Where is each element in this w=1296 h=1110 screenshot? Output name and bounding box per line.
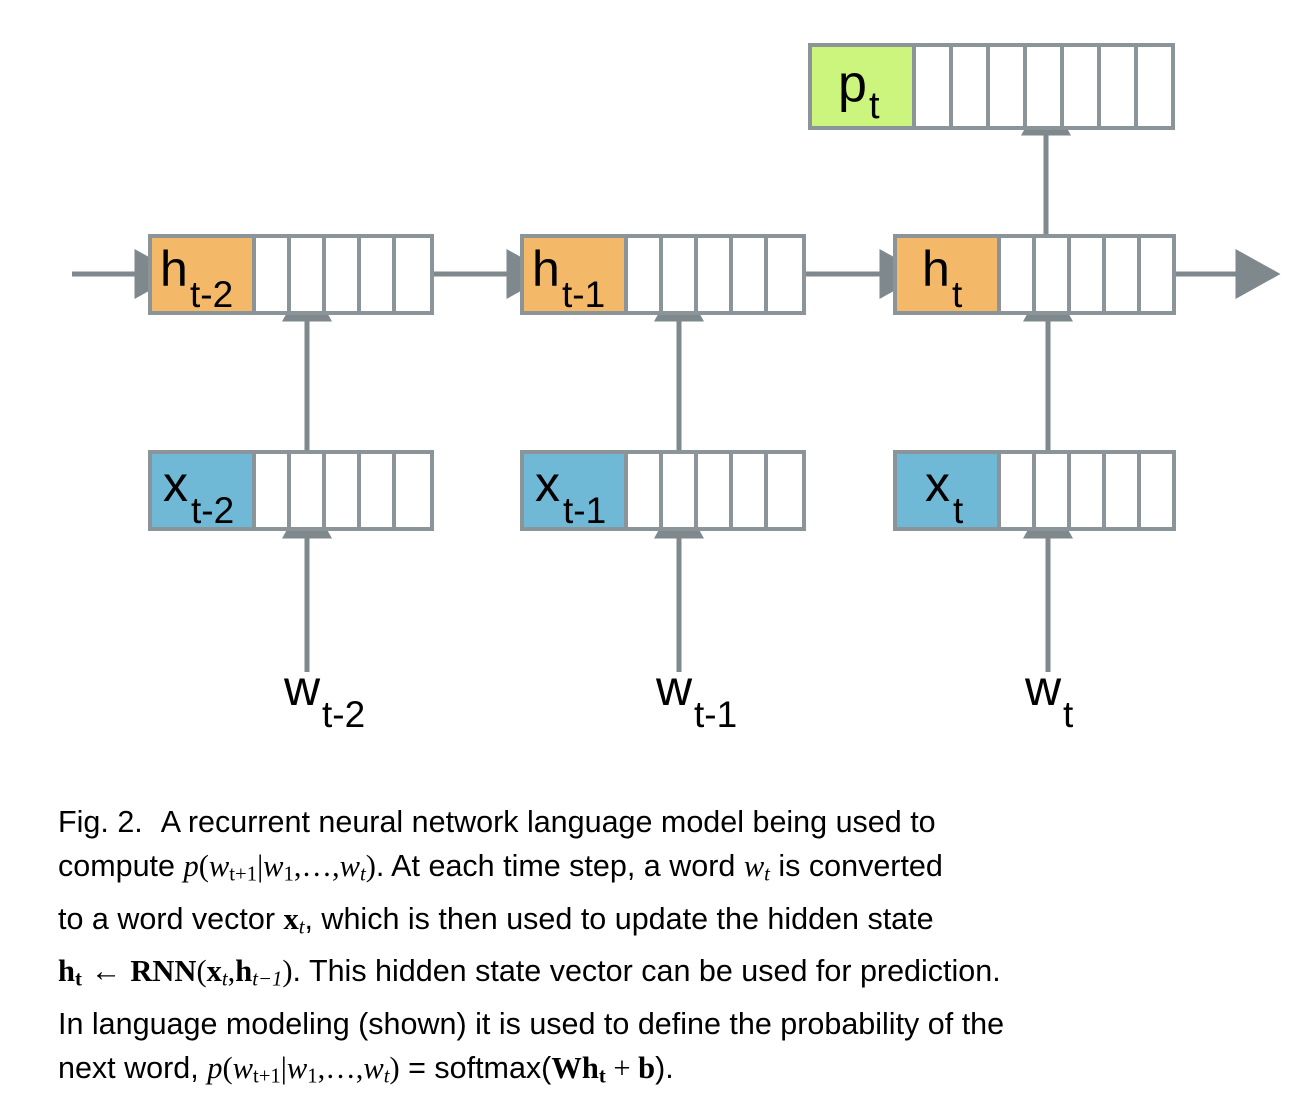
w2-label-sub: t-1 [694, 694, 737, 735]
caption-math-sub-t1: t+1 [229, 864, 257, 886]
pt-empty-cell [1025, 45, 1062, 128]
caption-math-sub-t1b: t+1 [253, 1065, 281, 1087]
x1-empty-cell [324, 452, 359, 529]
pt-empty-cell [1099, 45, 1136, 128]
caption-math-wt: w [744, 849, 764, 883]
caption-math-w5: w [287, 1051, 307, 1085]
caption-line-3: to a word vector xt, which is then used … [58, 897, 1240, 950]
h3-empty-cell [1069, 236, 1104, 313]
caption-line-2: compute p(wt+1|w1,…,wt). At each time st… [58, 844, 1240, 897]
h3-empty-cell [999, 236, 1034, 313]
caption-line-1: Fig. 2.A recurrent neural network langua… [58, 800, 1240, 844]
input-vector-t: x t [895, 452, 1174, 531]
caption-math-w1: w [209, 849, 229, 883]
caption-line1-text: A recurrent neural network language mode… [161, 805, 936, 839]
h3-empty-cell [1139, 236, 1174, 313]
w2-label-main: w [655, 660, 693, 716]
h2-empty-cell [661, 236, 696, 313]
x3-empty-cell [999, 452, 1034, 529]
hidden-state-vector-t-1: h t-1 [522, 236, 804, 315]
caption-line6-eq: = softmax( [400, 1051, 552, 1085]
x1-empty-cell [394, 452, 432, 529]
caption-math-hvec2-sub: t−1 [252, 969, 282, 991]
caption-line4-b: . This hidden state vector can be used f… [293, 954, 1001, 988]
x2-empty-cell [696, 452, 731, 529]
caption-line-4: ht←RNN(xt,ht−1). This hidden state vecto… [58, 949, 1240, 1002]
caption-math-xvec2: x [207, 954, 222, 988]
x3-empty-cell [1104, 452, 1139, 529]
figure-diagram: p t h t-2 h t-1 h t [0, 0, 1296, 780]
h1-empty-cell [324, 236, 359, 313]
h2-empty-cell [696, 236, 731, 313]
caption-math-p: p [183, 849, 198, 883]
x1-label-sub: t-2 [191, 490, 234, 531]
caption-math-hvec: h [58, 954, 75, 988]
caption-math-close3: ) [389, 1051, 399, 1085]
hidden-state-vector-t-2: h t-2 [150, 236, 432, 315]
h2-empty-cell [626, 236, 661, 313]
x3-empty-cell [1034, 452, 1069, 529]
caption-math-h3: h [582, 1051, 599, 1085]
caption-math-w6: w [363, 1051, 383, 1085]
caption-math-h3-sub: t [599, 1065, 606, 1087]
caption-line2-a: compute [58, 849, 183, 883]
h1-empty-cell [359, 236, 394, 313]
caption-line6-a: next word, [58, 1051, 207, 1085]
h1-label-main: h [160, 241, 188, 297]
caption-math-bvec: b [638, 1051, 655, 1085]
caption-math-dots2: ,…, [318, 1051, 364, 1085]
caption-line-5: In language modeling (shown) it is used … [58, 1002, 1240, 1046]
x1-empty-cell [254, 452, 289, 529]
x2-label-sub: t-1 [563, 490, 606, 531]
caption-line2-c: is converted [770, 849, 943, 883]
caption-math-leftarrow: ← [91, 954, 122, 988]
h2-label-main: h [532, 241, 560, 297]
h3-label-main: h [922, 241, 950, 297]
x1-empty-cell [289, 452, 324, 529]
caption-math-W: W [551, 1051, 582, 1085]
rnn-diagram-svg: p t h t-2 h t-1 h t [0, 0, 1296, 780]
input-vector-t-1: x t-1 [522, 452, 804, 531]
x1-label-main: x [163, 456, 188, 512]
caption-math-close: ) [366, 849, 376, 883]
figure-caption: Fig. 2.A recurrent neural network langua… [58, 800, 1240, 1098]
caption-math-w2: w [263, 849, 283, 883]
h3-empty-cell [1034, 236, 1069, 313]
w1-label-main: w [283, 660, 321, 716]
h2-empty-cell [766, 236, 804, 313]
caption-figure-label: Fig. 2. [58, 805, 143, 839]
h1-empty-cell [254, 236, 289, 313]
w3-label-sub: t [1063, 694, 1074, 735]
h2-empty-cell [731, 236, 766, 313]
caption-math-plus: + [606, 1051, 638, 1085]
x2-empty-cell [661, 452, 696, 529]
h1-empty-cell [289, 236, 324, 313]
output-probability-vector: p t [810, 45, 1173, 128]
x2-label-main: x [535, 456, 560, 512]
caption-math-w4: w [233, 1051, 253, 1085]
caption-math-sub-1b: 1 [307, 1065, 317, 1087]
x3-empty-cell [1069, 452, 1104, 529]
h1-empty-cell [394, 236, 432, 313]
caption-math-sub-1: 1 [284, 864, 294, 886]
caption-math-open: ( [199, 849, 209, 883]
x3-label-sub: t [953, 490, 964, 531]
pt-empty-cell [1062, 45, 1099, 128]
caption-math-rnn: RNN [130, 954, 196, 988]
pt-empty-cell [951, 45, 988, 128]
caption-math-hvec-sub: t [75, 969, 82, 991]
caption-math-open2: ( [196, 954, 206, 988]
x2-empty-cell [626, 452, 661, 529]
h3-empty-cell [1104, 236, 1139, 313]
pt-empty-cell [988, 45, 1025, 128]
caption-math-close2: ) [282, 954, 292, 988]
caption-line3-a: to a word vector [58, 902, 283, 936]
caption-math-p2: p [207, 1051, 222, 1085]
h1-label-sub: t-2 [190, 274, 233, 315]
x1-empty-cell [359, 452, 394, 529]
caption-math-open3: ( [222, 1051, 232, 1085]
x3-label-main: x [925, 456, 950, 512]
hidden-state-vector-t: h t [895, 236, 1174, 315]
x2-empty-cell [731, 452, 766, 529]
pt-label-sub: t [869, 85, 880, 127]
h2-label-sub: t-1 [562, 274, 605, 315]
w3-label-main: w [1024, 660, 1062, 716]
caption-line-6: next word, p(wt+1|w1,…,wt) = softmax(Wht… [58, 1046, 1240, 1099]
x3-empty-cell [1139, 452, 1174, 529]
caption-line2-b: . At each time step, a word [376, 849, 744, 883]
caption-line3-b: , which is then used to update the hidde… [304, 902, 933, 936]
caption-math-hvec2: h [235, 954, 252, 988]
input-vector-t-2: x t-2 [150, 452, 432, 531]
caption-math-dots: ,…, [294, 849, 340, 883]
pt-label-main: p [838, 55, 867, 113]
caption-line6-end: ). [655, 1051, 674, 1085]
w1-label-sub: t-2 [322, 694, 365, 735]
caption-math-w3: w [340, 849, 360, 883]
h3-label-sub: t [952, 274, 963, 315]
x2-empty-cell [766, 452, 804, 529]
pt-empty-cell [914, 45, 951, 128]
pt-empty-cell [1136, 45, 1173, 128]
caption-math-xvec: x [283, 902, 298, 936]
